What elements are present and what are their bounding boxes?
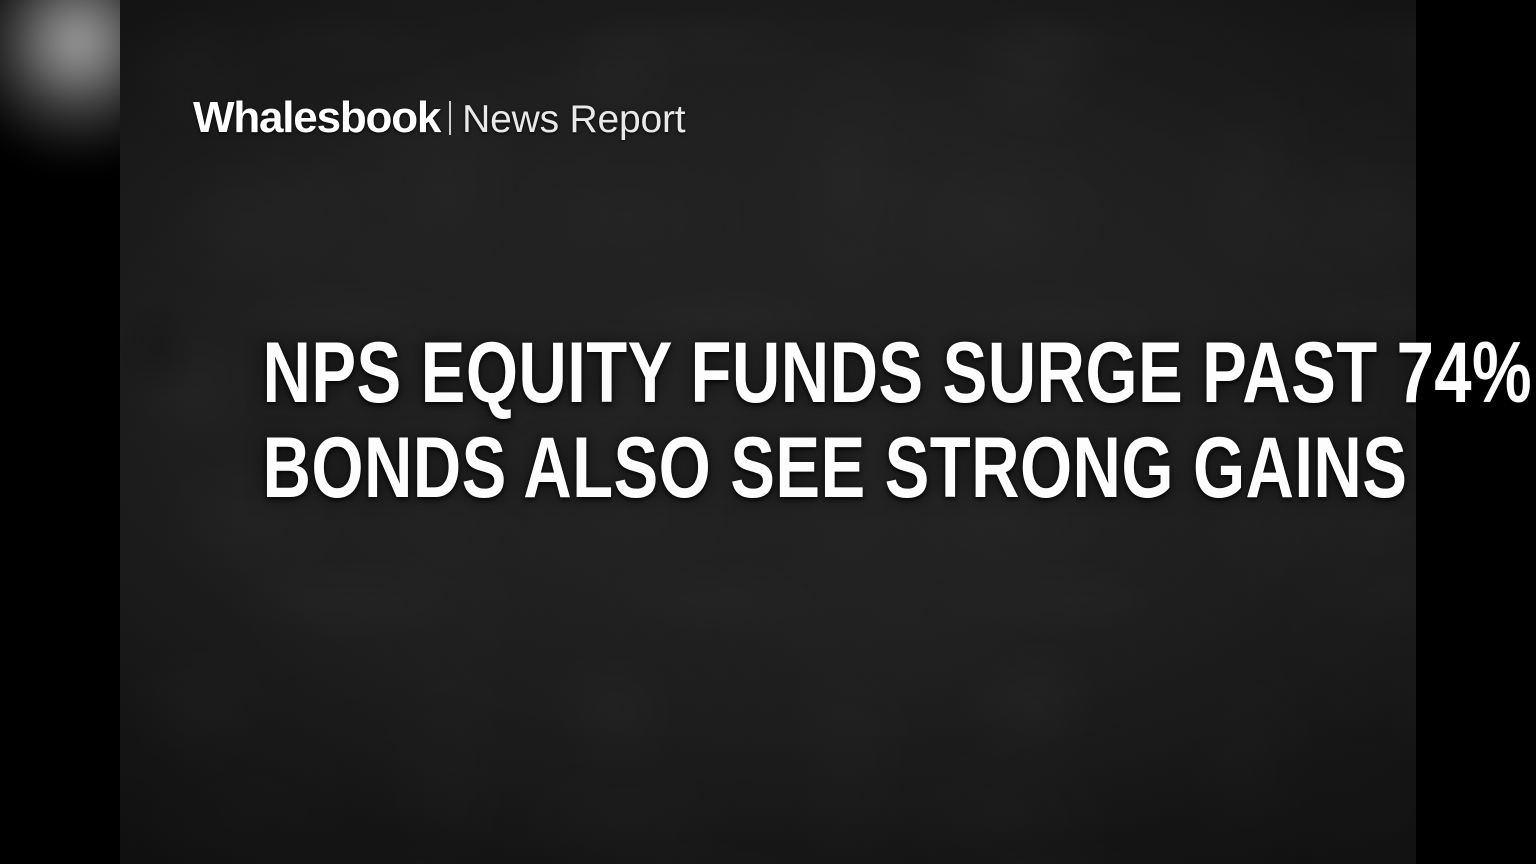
brand-separator-divider: [449, 101, 451, 135]
brand-wordmark: Whalesbook: [193, 96, 440, 140]
news-card-canvas: Whalesbook News Report NPS Equity Funds …: [0, 0, 1536, 864]
letterbox-bar-left: [0, 0, 120, 864]
brand-tagline: News Report: [462, 100, 685, 139]
letterbox-bar-right: [1416, 0, 1536, 864]
brand-logo-lockup[interactable]: Whalesbook News Report: [193, 96, 685, 140]
